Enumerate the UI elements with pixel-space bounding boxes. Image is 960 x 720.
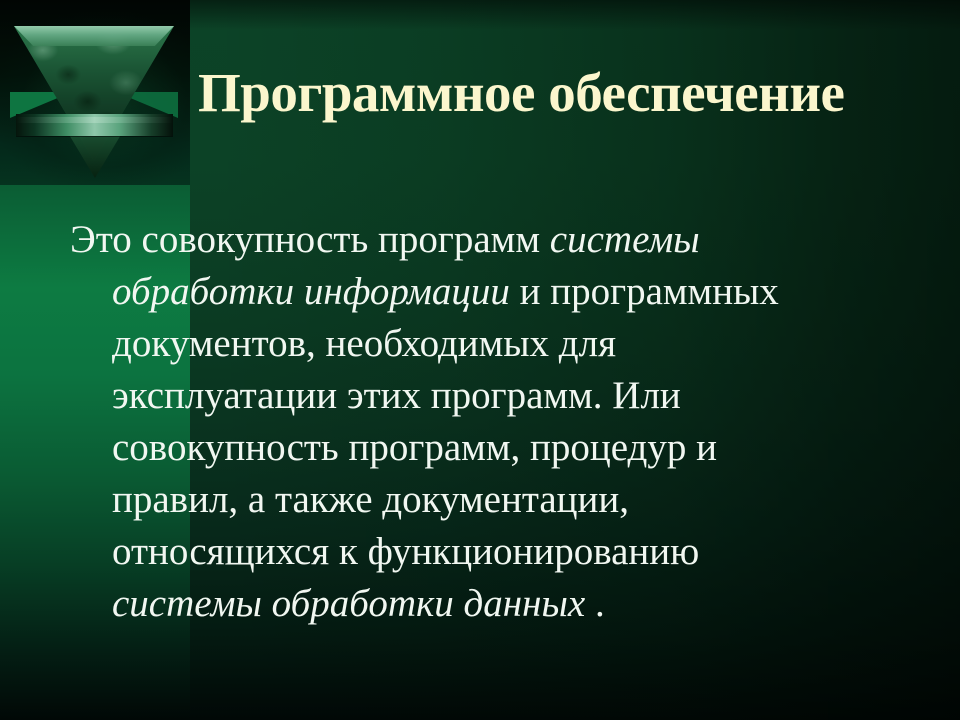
slide-body-text: Это совокупность программ системыобработ…	[70, 214, 900, 630]
inverted-pyramid-logo	[0, 0, 190, 190]
pyramid-bar-highlight	[16, 117, 173, 123]
slide-title: Программное обеспечение	[198, 62, 938, 124]
body-line: совокупность программ, процедур и	[70, 422, 900, 474]
body-emphasis-text: системы обработки данных	[112, 582, 585, 625]
body-line: обработки информации и программных	[70, 266, 900, 318]
body-plain-text: .	[585, 582, 605, 625]
body-plain-text: документов, необходимых для	[112, 322, 616, 365]
body-plain-text: Это совокупность программ	[70, 218, 550, 261]
pyramid-top-face-icon	[14, 26, 174, 46]
presentation-slide: Программное обеспечение Это совокупность…	[0, 0, 960, 720]
body-emphasis-text: обработки информации	[112, 270, 510, 313]
body-line: системы обработки данных .	[70, 578, 900, 630]
body-emphasis-text: системы	[550, 218, 700, 261]
body-plain-text: относящихся к функционированию	[112, 530, 699, 573]
body-plain-text: правил, а также документации,	[112, 478, 629, 521]
body-line: Это совокупность программ системы	[70, 214, 900, 266]
body-line: правил, а также документации,	[70, 474, 900, 526]
body-plain-text: эксплуатации этих программ. Или	[112, 374, 681, 417]
body-line: относящихся к функционированию	[70, 526, 900, 578]
body-line: документов, необходимых для	[70, 318, 900, 370]
body-line: эксплуатации этих программ. Или	[70, 370, 900, 422]
body-plain-text: совокупность программ, процедур и	[112, 426, 717, 469]
body-plain-text: и программных	[510, 270, 779, 313]
